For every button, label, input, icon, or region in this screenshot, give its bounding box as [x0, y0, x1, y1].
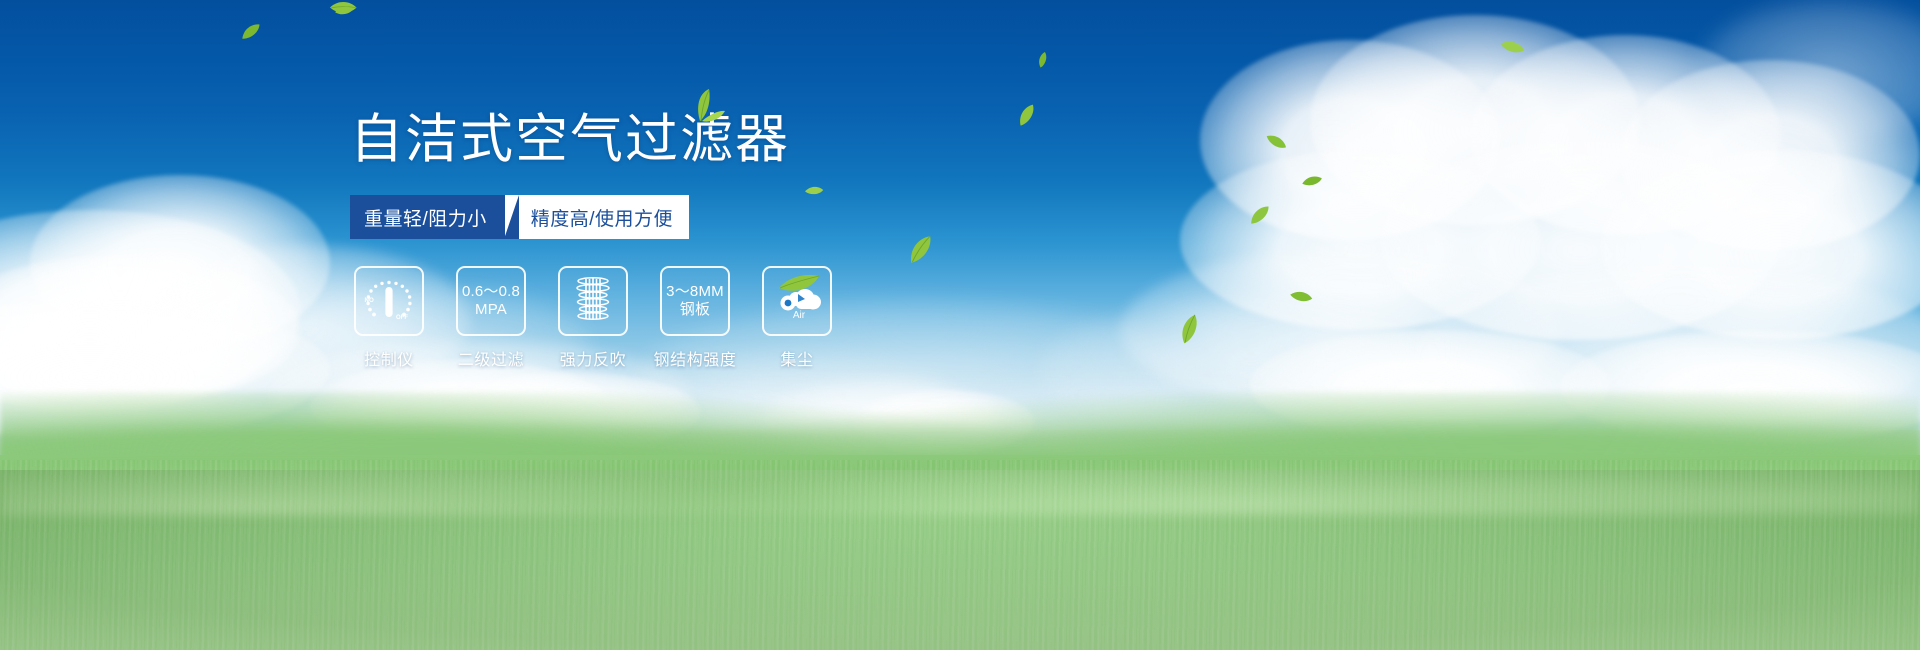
badge-light-weight[interactable]: 重量轻/阻力小 [350, 195, 505, 239]
cloud-air-icon: Air [769, 275, 825, 328]
feature-controller[interactable]: NO OFF 控制仪 [350, 266, 428, 370]
svg-text:NO: NO [365, 297, 374, 304]
steel-text-icon-line1: 3～8MM [666, 283, 724, 301]
feature-controller-box: NO OFF [354, 266, 424, 336]
feature-dust-collection[interactable]: Air 集尘 [758, 266, 836, 370]
feature-strong-backblow-label: 强力反吹 [560, 346, 626, 370]
feature-two-stage-filter[interactable]: 0.6～0.8 MPA 二级过滤 [452, 266, 530, 370]
feature-steel-strength[interactable]: 3～8MM 钢板 钢结构强度 [656, 266, 734, 370]
banner-content: 自洁式空气过滤器 重量轻/阻力小 精度高/使用方便 [350, 110, 970, 370]
feature-controller-label: 控制仪 [364, 346, 414, 370]
feature-row: NO OFF 控制仪 0.6～0.8 MPA 二级过滤 [350, 266, 970, 370]
feature-two-stage-filter-box: 0.6～0.8 MPA [456, 266, 526, 336]
badge-row: 重量轻/阻力小 精度高/使用方便 [350, 195, 670, 239]
pressure-text-icon-line1: 0.6～0.8 [462, 283, 520, 301]
feature-steel-strength-label: 钢结构强度 [654, 346, 737, 370]
title-leaf-icon [680, 88, 726, 127]
feature-strong-backblow-box [558, 266, 628, 336]
title-row: 自洁式空气过滤器 [350, 110, 970, 174]
pressure-text-icon-line2: MPA [475, 301, 507, 319]
airflow-coil-icon [569, 274, 617, 329]
feature-strong-backblow[interactable]: 强力反吹 [554, 266, 632, 370]
feature-dust-collection-box: Air [762, 266, 832, 336]
badge-precision[interactable]: 精度高/使用方便 [505, 195, 689, 239]
page-title: 自洁式空气过滤器 [350, 110, 970, 170]
steel-text-icon-line2: 钢板 [680, 301, 710, 319]
feature-dust-collection-label: 集尘 [780, 346, 813, 370]
feature-two-stage-filter-label: 二级过滤 [458, 346, 524, 370]
hero-banner: 自洁式空气过滤器 重量轻/阻力小 精度高/使用方便 [0, 0, 1920, 650]
grass-vignette [0, 470, 1920, 650]
gauge-icon: NO OFF [362, 274, 416, 329]
feature-steel-strength-box: 3～8MM 钢板 [660, 266, 730, 336]
svg-text:OFF: OFF [396, 315, 408, 321]
cloud-air-icon-text: Air [793, 310, 806, 321]
